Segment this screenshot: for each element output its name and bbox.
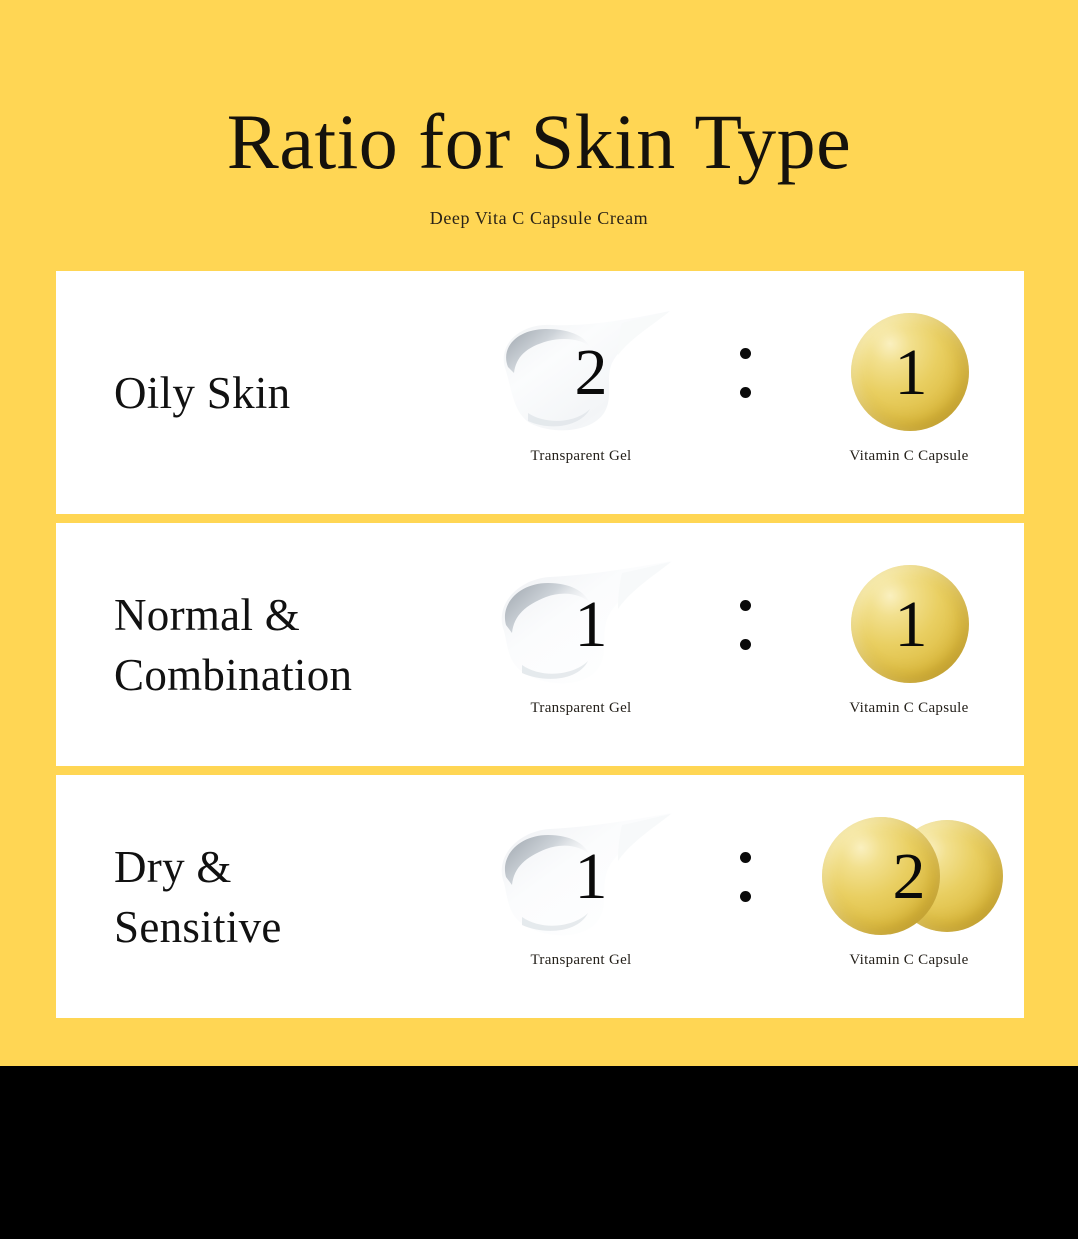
colon-dot-upper — [740, 600, 751, 611]
gel-quantity: 2 — [466, 307, 706, 439]
capsule-caption: Vitamin C Capsule — [794, 446, 1024, 466]
ratio-card-dry-sensitive: Dry & Sensitive — [56, 775, 1024, 1018]
skin-type-label: Oily Skin — [114, 363, 290, 423]
ratio-group: 2 Transparent Gel 1 Vitamin C Capsule — [466, 271, 1024, 514]
ratio-group: 1 Transparent Gel 1 Vitamin C Capsule — [466, 523, 1024, 766]
gel-slot: 1 Transparent Gel — [466, 523, 696, 766]
colon-dot-upper — [740, 348, 751, 359]
product-subtitle: Deep Vita C Capsule Cream — [0, 206, 1078, 230]
capsule-quantity: 1 — [794, 559, 1024, 691]
colon-separator-icon — [728, 811, 762, 943]
capsule-slot: 2 Vitamin C Capsule — [794, 775, 1024, 1018]
colon-dot-upper — [740, 852, 751, 863]
gel-quantity: 1 — [466, 811, 706, 943]
colon-separator-icon — [728, 307, 762, 439]
gel-caption: Transparent Gel — [466, 698, 696, 718]
capsule-visual: 2 — [794, 811, 1024, 943]
page-title: Ratio for Skin Type — [0, 96, 1078, 188]
capsule-visual: 1 — [794, 307, 1024, 439]
ratio-group: 1 Transparent Gel 2 Vitamin C Capsule — [466, 775, 1024, 1018]
gel-caption: Transparent Gel — [466, 446, 696, 466]
skin-type-label: Dry & Sensitive — [114, 837, 282, 957]
gel-visual: 1 — [466, 811, 696, 943]
colon-dot-lower — [740, 891, 751, 902]
gel-visual: 2 — [466, 307, 696, 439]
ratio-card-normal-combination: Normal & Combination — [56, 523, 1024, 766]
ratio-card-list: Oily Skin — [56, 271, 1024, 1018]
infographic-poster: Ratio for Skin Type Deep Vita C Capsule … — [0, 0, 1078, 1239]
colon-separator-icon — [728, 559, 762, 691]
gel-slot: 2 Transparent Gel — [466, 271, 696, 514]
capsule-slot: 1 Vitamin C Capsule — [794, 271, 1024, 514]
capsule-quantity: 2 — [794, 811, 1024, 943]
capsule-caption: Vitamin C Capsule — [794, 698, 1024, 718]
gel-visual: 1 — [466, 559, 696, 691]
gel-slot: 1 Transparent Gel — [466, 775, 696, 1018]
capsule-visual: 1 — [794, 559, 1024, 691]
capsule-slot: 1 Vitamin C Capsule — [794, 523, 1024, 766]
colon-dot-lower — [740, 387, 751, 398]
capsule-quantity: 1 — [794, 307, 1024, 439]
capsule-caption: Vitamin C Capsule — [794, 950, 1024, 970]
poster-header: Ratio for Skin Type Deep Vita C Capsule … — [0, 96, 1078, 230]
bottom-black-bar — [0, 1066, 1078, 1239]
skin-type-label: Normal & Combination — [114, 585, 352, 705]
colon-dot-lower — [740, 639, 751, 650]
gel-caption: Transparent Gel — [466, 950, 696, 970]
ratio-card-oily-skin: Oily Skin — [56, 271, 1024, 514]
gel-quantity: 1 — [466, 559, 706, 691]
